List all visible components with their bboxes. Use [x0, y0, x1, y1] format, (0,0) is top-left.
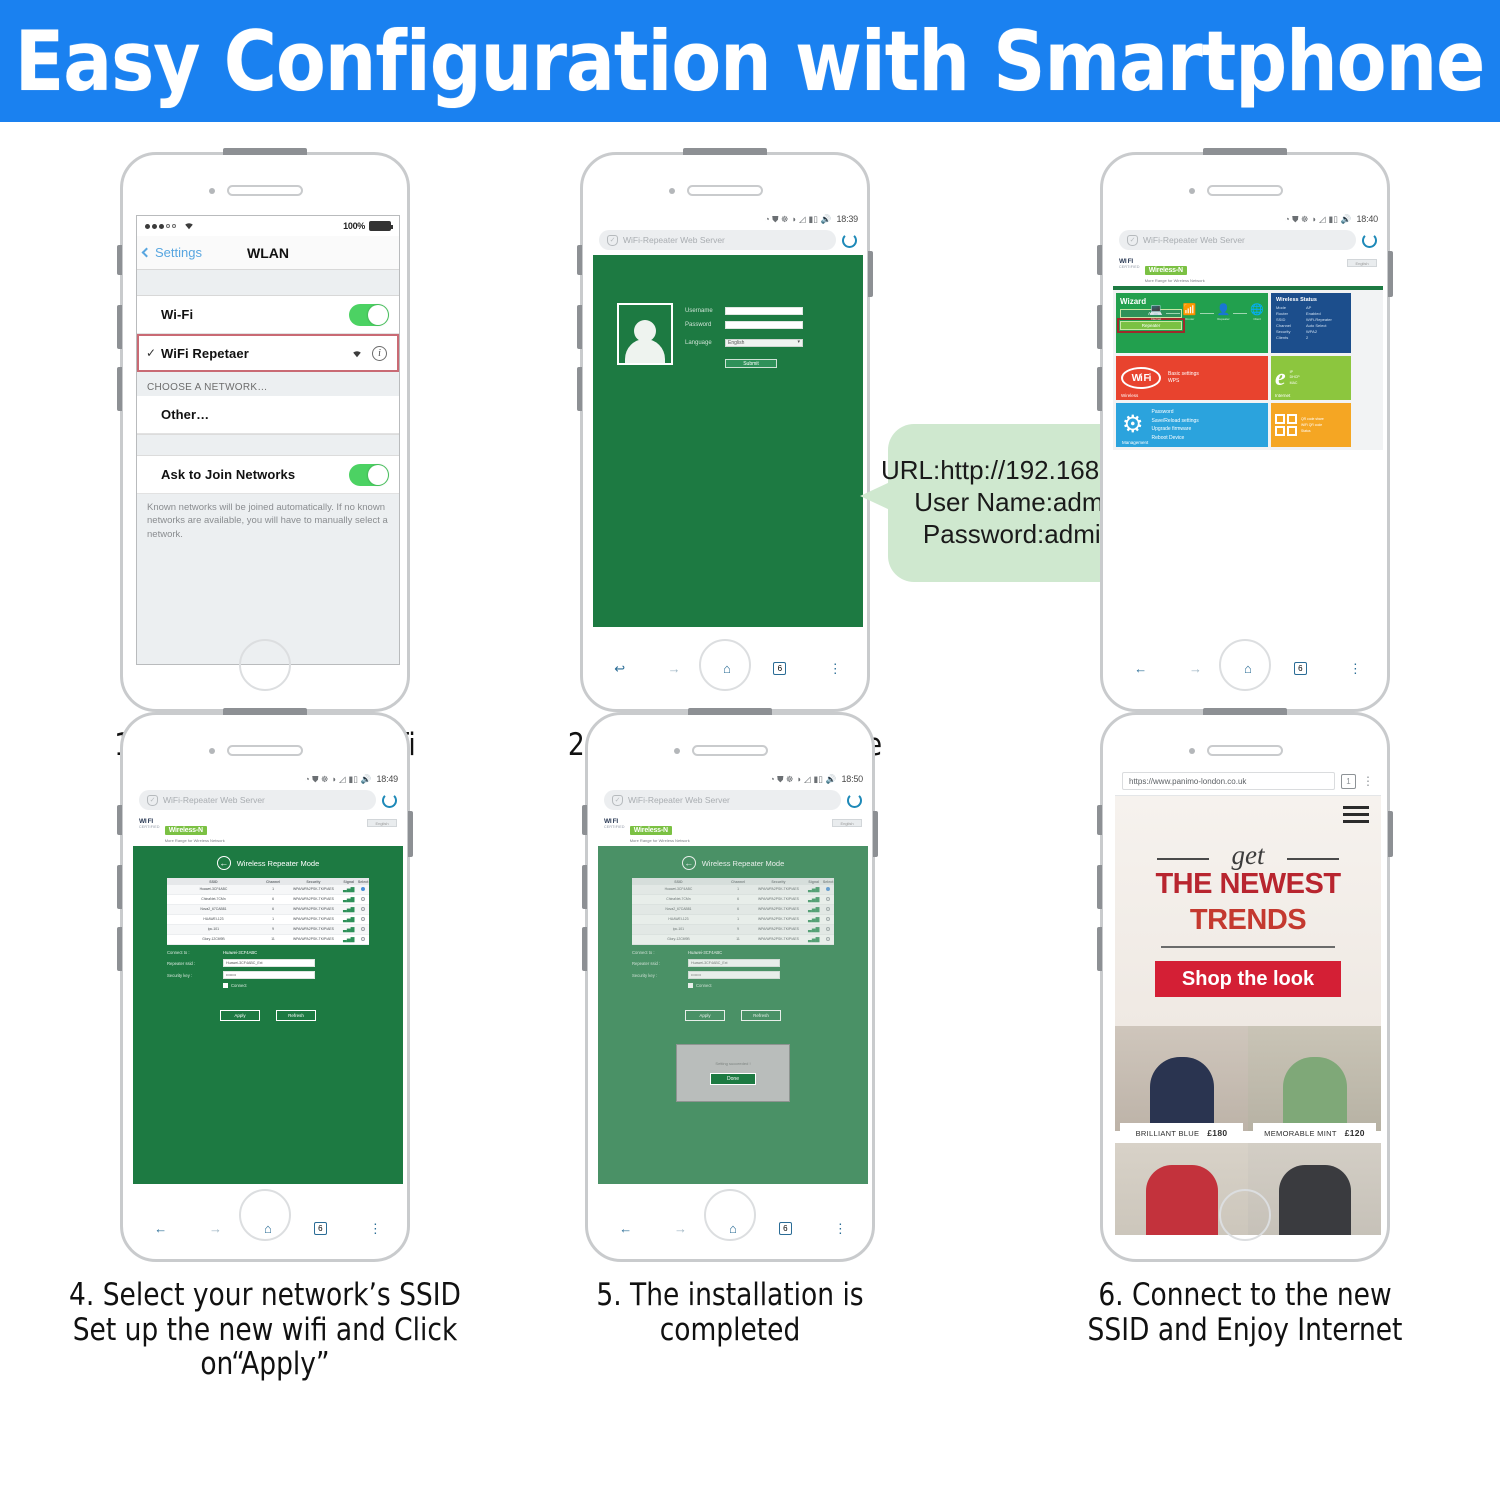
step-4-caption-line2: Set up the new wifi and Click on“Apply”	[32, 1313, 498, 1382]
user-avatar-icon	[617, 303, 673, 365]
menu-icon[interactable]: ⋮	[369, 1222, 382, 1235]
step-5: ◔ ⛊ ☸ ◑ ◿ ▮▯ 🔊 18:50 ✓ WiFi-Repeater Web…	[500, 712, 960, 1347]
site-hero-banner: get THE NEWEST TRENDS Shop the look	[1115, 796, 1381, 1026]
status-clock: 18:49	[376, 774, 398, 784]
manage-line-2: Upgrade firmware	[1152, 426, 1192, 432]
volume-down-button[interactable]	[1097, 367, 1102, 411]
volume-up-button[interactable]	[117, 865, 122, 909]
browser-omnibar: ✓ WiFi-Repeater Web Server	[598, 787, 868, 815]
product-name: BRILLIANT BLUE	[1136, 1129, 1200, 1138]
shopping-site-screen: https://www.panimo-london.co.uk 1 ⋮ get …	[1115, 767, 1381, 1235]
manage-line-1: Save/Reload settings	[1152, 418, 1199, 424]
step-6-caption-line2: SSID and Enjoy Internet	[1012, 1313, 1478, 1348]
product-image	[1279, 1165, 1351, 1235]
cell-channel: 6	[260, 895, 286, 904]
cell-signal: ▃▅▇	[341, 885, 357, 894]
router-brand-header: WI FI CERTIFIED Wireless-N More Range fo…	[598, 815, 868, 846]
power-side-button[interactable]	[873, 811, 878, 857]
earpiece-speaker	[692, 745, 768, 756]
step-6-caption: 6. Connect to the new SSID and Enjoy Int…	[1012, 1278, 1478, 1347]
steps-grid: 100% Settings WLAN Wi-Fi	[0, 122, 1500, 1500]
power-side-button[interactable]	[1388, 811, 1393, 857]
volume-icon: 🔊	[361, 775, 372, 784]
connected-network-label: WiFi Repetaer	[161, 346, 249, 361]
forward-icon[interactable]: →	[1189, 662, 1202, 675]
wifi-icon: ◿	[799, 215, 806, 224]
address-bar[interactable]: https://www.panimo-london.co.uk	[1122, 772, 1335, 790]
mute-switch[interactable]	[1097, 805, 1102, 835]
step-4-caption-line1: 4. Select your network’s SSID	[69, 1277, 461, 1313]
router-brand-header: WI FI CERTIFIED Wireless-N More Range fo…	[1113, 255, 1383, 286]
row-select-radio[interactable]	[361, 887, 365, 891]
browser-omnibar: ✓ WiFi-Repeater Web Server	[133, 787, 403, 815]
cell-signal: ▃▅▇	[341, 915, 357, 924]
menu-icon[interactable]: ⋮	[834, 1222, 847, 1235]
language-button[interactable]: English	[367, 819, 397, 827]
network-info-icon[interactable]: i	[372, 346, 387, 361]
step-4-caption: 4. Select your network’s SSID Set up the…	[32, 1278, 498, 1382]
cell-ssid: ChinaNet-7CMn	[167, 895, 260, 904]
back-icon[interactable]: →	[154, 1222, 167, 1235]
status-glyphs-icon: ◔ ⛊ ☸ ◑	[765, 215, 796, 224]
hero-headline-1: THE NEWEST	[1115, 868, 1381, 901]
back-icon[interactable]: →	[619, 1222, 632, 1235]
wifi-toggle-row[interactable]: Wi-Fi	[137, 296, 399, 334]
product-name: MEMORABLE MINT	[1264, 1129, 1337, 1138]
cell-signal: ▃▅▇	[341, 895, 357, 904]
volume-up-button[interactable]	[582, 865, 587, 909]
home-button[interactable]	[239, 639, 291, 691]
table-row[interactable]: ChinaNet-7CMn 6 WPA/WPA2PSK-TKIP/AES ▃▅▇	[167, 895, 369, 905]
tile-wireless[interactable]: Wi Fi Basic settings WPS Wireless	[1116, 356, 1268, 400]
cell-signal-icon: ▮▯	[809, 215, 818, 224]
mute-switch[interactable]	[117, 805, 122, 835]
wifi-tile-line2: WPS	[1168, 378, 1179, 384]
network-signal-icon	[351, 346, 363, 361]
android-status-bar: ◔ ⛊ ☸ ◑ ◿ ▮▯ 🔊 18:39	[593, 211, 863, 227]
mute-switch[interactable]	[1097, 245, 1102, 275]
volume-down-button[interactable]	[582, 927, 587, 971]
cell-security: WPA/WPA2PSK-TKIP/AES	[286, 925, 341, 934]
power-button[interactable]	[223, 148, 307, 155]
wireless-n-badge: Wireless-N	[1145, 266, 1187, 275]
android-browser-screen-dashboard: ◔ ⛊ ☸ ◑ ◿ ▮▯ 🔊 18:40 ✓ WiFi-Repeater Web…	[1113, 211, 1383, 681]
wizard-mode-repeater-button[interactable]: Repeater	[1120, 321, 1182, 330]
brand-tagline: More Range for Wireless Network	[1145, 278, 1205, 283]
home-button[interactable]	[239, 1189, 291, 1241]
status-glyphs-icon: ◔ ⛊ ☸ ◑	[1285, 215, 1316, 224]
browser-omnibar: ✓ WiFi-Repeater Web Server	[1113, 227, 1383, 255]
tile-management[interactable]: ⚙ Password Save/Reload settings Upgrade …	[1116, 403, 1268, 447]
home-button[interactable]	[704, 1189, 756, 1241]
volume-down-button[interactable]	[117, 367, 122, 411]
col-channel: Channel	[260, 878, 286, 885]
cell-ssid: Huawei-3CF4ABC	[167, 885, 260, 894]
step-6: https://www.panimo-london.co.uk 1 ⋮ get …	[1000, 712, 1490, 1347]
row-select-radio[interactable]	[361, 907, 365, 911]
connected-network-row[interactable]: ✓ WiFi Repetaer i	[137, 334, 399, 372]
success-dialog: Setting succeeded ! Done	[676, 1044, 790, 1102]
front-camera-icon	[669, 188, 675, 194]
connect-to-label: Connect to :	[167, 950, 219, 955]
volume-up-button[interactable]	[1097, 305, 1102, 349]
table-header-row: SSID Channel Security Signal Select	[167, 878, 369, 885]
android-status-bar: ◔ ⛊ ☸ ◑ ◿ ▮▯ 🔊 18:40	[1113, 211, 1383, 227]
menu-icon[interactable]: ⋮	[1362, 775, 1374, 787]
forward-icon[interactable]: →	[668, 662, 681, 675]
power-side-button[interactable]	[1388, 251, 1393, 297]
step-6-caption-line1: 6. Connect to the new	[1098, 1277, 1391, 1313]
qr-line-1: WiFi QR code	[1301, 423, 1322, 427]
front-camera-icon	[674, 748, 680, 754]
front-camera-icon	[1189, 188, 1195, 194]
step-3: ◔ ⛊ ☸ ◑ ◿ ▮▯ 🔊 18:40 ✓ WiFi-Repeater Web…	[1010, 152, 1480, 797]
mute-switch[interactable]	[577, 245, 582, 275]
topo-label-0: Internet	[1151, 317, 1161, 321]
repeater-page-header: ← Wireless Repeater Mode	[141, 856, 395, 870]
connect-checkbox[interactable]	[223, 983, 228, 988]
shield-icon: ✓	[607, 235, 618, 246]
product-card[interactable]: BRILLIANT BLUE £180	[1115, 1026, 1248, 1131]
repeater-mode-page: ← Wireless Repeater Mode SSID Channel Se…	[133, 846, 403, 1184]
brand-tagline: More Range for Wireless Network	[165, 838, 225, 843]
brand-tagline: More Range for Wireless Network	[630, 838, 690, 843]
tabs-icon[interactable]: 1	[1341, 774, 1356, 789]
volume-up-button[interactable]	[1097, 865, 1102, 909]
cell-ssid: HUAWEI-123	[167, 915, 260, 924]
product-row-1: BRILLIANT BLUE £180 MEMORABLE MINT £120	[1115, 1026, 1381, 1131]
table-row[interactable]: ipc-101 9 WPA/WPA2PSK-TKIP/AES ▃▅▇	[167, 925, 369, 935]
wifi-icon: ◿	[1319, 215, 1326, 224]
home-button[interactable]	[1219, 1189, 1271, 1241]
forward-icon[interactable]: →	[674, 1222, 687, 1235]
volume-down-button[interactable]	[577, 367, 582, 411]
android-status-bar: ◔ ⛊ ☸ ◑ ◿ ▮▯ 🔊 18:49	[133, 771, 403, 787]
power-button[interactable]	[683, 148, 767, 155]
volume-down-button[interactable]	[1097, 927, 1102, 971]
network-scan-table: SSID Channel Security Signal Select Huaw…	[167, 878, 369, 945]
address-bar[interactable]: ✓ WiFi-Repeater Web Server	[1119, 230, 1356, 250]
android-browser-screen-repeater: ◔ ⛊ ☸ ◑ ◿ ▮▯ 🔊 18:49 ✓ WiFi-Repeater Web…	[133, 771, 403, 1241]
ask-to-join-label: Ask to Join Networks	[161, 467, 295, 482]
management-tile-caption: Management	[1122, 440, 1148, 445]
router-dashboard-tiles: Wizard AP Repeater 💻Internet 📶Router 👤Re…	[1113, 290, 1383, 450]
apply-button[interactable]: Apply	[220, 1010, 260, 1021]
wifi-logo-sub: CERTIFIED	[139, 826, 160, 830]
wifi-logo-sub: CERTIFIED	[1119, 266, 1140, 270]
topo-label-1: Router	[1185, 317, 1194, 321]
router-node-icon: 📶	[1183, 305, 1197, 316]
repeater-ssid-input[interactable]: Huawei-3CF4ABC_Ext	[223, 959, 315, 967]
col-signal: Signal	[341, 878, 357, 885]
address-bar[interactable]: ✓ WiFi-Repeater Web Server	[604, 790, 841, 810]
mute-switch[interactable]	[117, 245, 122, 275]
back-icon[interactable]: ↩	[614, 662, 625, 675]
ask-to-join-toggle-switch[interactable]	[349, 464, 389, 486]
cell-ssid: Nova2_67CAB81	[167, 905, 260, 914]
address-bar-text: WiFi-Repeater Web Server	[628, 795, 730, 805]
volume-up-button[interactable]	[577, 305, 582, 349]
wifi-icon	[183, 221, 195, 232]
wireless-n-badge: Wireless-N	[165, 826, 207, 835]
gear-icon: ⚙	[1122, 413, 1144, 437]
language-button[interactable]: English	[832, 819, 862, 827]
tabs-icon[interactable]: 6	[773, 662, 786, 675]
android-status-bar: ◔ ⛊ ☸ ◑ ◿ ▮▯ 🔊 18:50	[598, 771, 868, 787]
front-camera-icon	[209, 188, 215, 194]
volume-icon: 🔊	[1341, 215, 1352, 224]
forward-icon[interactable]: →	[209, 1222, 222, 1235]
wifi-toggle-switch[interactable]	[349, 304, 389, 326]
internet-line1: IP	[1290, 370, 1293, 374]
back-arrow-icon[interactable]: ←	[217, 856, 231, 870]
repeater-page-title: Wireless Repeater Mode	[237, 859, 320, 868]
battery-icon	[369, 221, 391, 231]
wizard-topology-diagram: 💻Internet 📶Router 👤Repeater 🌐Client	[1149, 305, 1264, 321]
earpiece-speaker	[1207, 185, 1283, 196]
table-row[interactable]: HUAWEI-123 1 WPA/WPA2PSK-TKIP/AES ▃▅▇	[167, 915, 369, 925]
manage-line-3: Reboot Device	[1152, 435, 1185, 441]
ios-wlan-screen: 100% Settings WLAN Wi-Fi	[136, 215, 400, 665]
qr-line-0: QR code share	[1301, 417, 1324, 421]
row-select-radio[interactable]	[361, 917, 365, 921]
cell-signal: ▃▅▇	[341, 905, 357, 914]
submit-button[interactable]: Submit	[725, 359, 777, 368]
table-row[interactable]: Huawei-3CF4ABC 1 WPA/WPA2PSK-TKIP/AES ▃▅…	[167, 885, 369, 895]
cell-signal: ▃▅▇	[341, 925, 357, 934]
reload-icon[interactable]	[1362, 233, 1377, 248]
col-ssid: SSID	[167, 878, 260, 885]
status-clock: 18:40	[1356, 214, 1378, 224]
status-glyphs-icon: ◔ ⛊ ☸ ◑	[770, 775, 801, 784]
cell-signal-icon: ▮▯	[1329, 215, 1338, 224]
topo-label-3: Client	[1253, 317, 1261, 321]
refresh-button[interactable]: Refresh	[276, 1010, 316, 1021]
volume-down-button[interactable]	[117, 927, 122, 971]
wifi-icon: ◿	[339, 775, 346, 784]
cell-channel: 1	[260, 885, 286, 894]
col-security: Security	[286, 878, 341, 885]
power-button[interactable]	[1203, 148, 1287, 155]
phone-frame-5: ◔ ⛊ ☸ ◑ ◿ ▮▯ 🔊 18:50 ✓ WiFi-Repeater Web…	[585, 712, 875, 1262]
table-row[interactable]: Nova2_67CAB81 6 WPA/WPA2PSK-TKIP/AES ▃▅▇	[167, 905, 369, 915]
status-glyphs-icon: ◔ ⛊ ☸ ◑	[305, 775, 336, 784]
tile-wireless-status[interactable]: Wireless Status ModeAP RouterEnabled SSI…	[1271, 293, 1351, 353]
cell-signal-dots-icon	[145, 224, 176, 229]
phone-frame-1: 100% Settings WLAN Wi-Fi	[120, 152, 410, 712]
wifi-tile-caption: Wireless	[1121, 393, 1138, 398]
address-bar[interactable]: ✓ WiFi-Repeater Web Server	[139, 790, 376, 810]
phone-frame-4: ◔ ⛊ ☸ ◑ ◿ ▮▯ 🔊 18:49 ✓ WiFi-Repeater Web…	[120, 712, 410, 1262]
wifi-certified-logo-icon: WI FI CERTIFIED	[604, 819, 625, 830]
power-side-button[interactable]	[868, 251, 873, 297]
other-network-row[interactable]: Other…	[137, 396, 399, 434]
step-5-caption-line2: completed	[512, 1313, 949, 1348]
choose-network-section-header: CHOOSE A NETWORK…	[137, 372, 399, 396]
router-login-page: Username Password Language English	[593, 255, 863, 627]
reload-icon[interactable]	[842, 233, 857, 248]
wifi-logo-sub: CERTIFIED	[604, 826, 625, 830]
phone-frame-2: ◔ ⛊ ☸ ◑ ◿ ▮▯ 🔊 18:39 ✓ WiFi-Repeater Web…	[580, 152, 870, 712]
repeater-settings-form: Connect to : Huawei-3CF4ABC Repeater ssi…	[167, 950, 369, 988]
internet-line2: DHCP	[1290, 375, 1300, 379]
earpiece-speaker	[227, 745, 303, 756]
front-camera-icon	[1189, 748, 1195, 754]
status-clock: 18:50	[841, 774, 863, 784]
page-header-banner: Easy Configuration with Smartphone	[0, 0, 1500, 122]
menu-icon[interactable]: ⋮	[1349, 662, 1362, 675]
tabs-icon[interactable]: 6	[314, 1222, 327, 1235]
product-label: MEMORABLE MINT £120	[1253, 1123, 1376, 1143]
shop-the-look-button[interactable]: Shop the look	[1155, 961, 1341, 997]
android-browser-screen-complete: ◔ ⛊ ☸ ◑ ◿ ▮▯ 🔊 18:50 ✓ WiFi-Repeater Web…	[598, 771, 868, 1241]
hero-script-word: get	[1115, 840, 1381, 871]
mute-switch[interactable]	[582, 805, 587, 835]
cell-channel: 6	[260, 905, 286, 914]
ask-to-join-row[interactable]: Ask to Join Networks	[137, 456, 399, 494]
reload-icon[interactable]	[382, 793, 397, 808]
password-label: Password	[685, 322, 719, 328]
step-5-caption-line1: 5. The installation is	[596, 1277, 863, 1313]
android-browser-screen-login: ◔ ⛊ ☸ ◑ ◿ ▮▯ 🔊 18:39 ✓ WiFi-Repeater Web…	[593, 211, 863, 681]
cell-security: WPA/WPA2PSK-TKIP/AES	[286, 905, 341, 914]
ios-settings-list: Wi-Fi ✓ WiFi Repetaer i CHOOSE	[137, 270, 399, 664]
cell-security: WPA/WPA2PSK-TKIP/AES	[286, 935, 341, 944]
callout-tail	[860, 482, 890, 510]
repeater-ssid-label: Repeater ssid :	[167, 961, 219, 966]
step-5-caption: 5. The installation is completed	[512, 1278, 949, 1347]
cell-signal-icon: ▮▯	[349, 775, 358, 784]
hero-headline-2: TRENDS	[1115, 904, 1381, 937]
earpiece-speaker	[227, 185, 303, 196]
product-price: £180	[1207, 1128, 1227, 1138]
col-select: Select	[357, 878, 369, 885]
product-price: £120	[1345, 1128, 1365, 1138]
step-4: ◔ ⛊ ☸ ◑ ◿ ▮▯ 🔊 18:49 ✓ WiFi-Repeater Web…	[20, 712, 510, 1382]
product-label: BRILLIANT BLUE £180	[1120, 1123, 1243, 1143]
step-1: 100% Settings WLAN Wi-Fi	[30, 152, 500, 797]
cell-signal: ▃▅▇	[341, 935, 357, 944]
cell-channel: 1	[260, 915, 286, 924]
address-bar-text: WiFi-Repeater Web Server	[163, 795, 265, 805]
power-button[interactable]	[688, 708, 772, 715]
table-row[interactable]: Glory-12CM9B 11 WPA/WPA2PSK-TKIP/AES ▃▅▇	[167, 935, 369, 945]
cell-security: WPA/WPA2PSK-TKIP/AES	[286, 915, 341, 924]
screen-title: WLAN	[137, 245, 399, 261]
tabs-icon[interactable]: 6	[779, 1222, 792, 1235]
hero-rule-bottom	[1161, 946, 1335, 948]
cell-security: WPA/WPA2PSK-TKIP/AES	[286, 895, 341, 904]
row-select-radio[interactable]	[361, 897, 365, 901]
internet-line3: MAC	[1290, 381, 1298, 385]
success-dialog-message: Setting succeeded !	[715, 1061, 750, 1066]
login-form: Username Password Language English	[685, 303, 803, 368]
page-title: Easy Configuration with Smartphone	[15, 13, 1485, 110]
status-clock: 18:39	[836, 214, 858, 224]
cell-ssid: ipc-101	[167, 925, 260, 934]
cell-security: WPA/WPA2PSK-TKIP/AES	[286, 885, 341, 894]
power-button[interactable]	[1203, 708, 1287, 715]
modal-overlay	[598, 846, 868, 1184]
cell-ssid: Glory-12CM9B	[167, 935, 260, 944]
wifi-icon: ◿	[804, 775, 811, 784]
tile-status-qr[interactable]: QR code share WiFi QR code Status	[1271, 403, 1351, 447]
status-val-5: 2	[1306, 335, 1308, 341]
address-bar-text: WiFi-Repeater Web Server	[1143, 235, 1245, 245]
cell-channel: 11	[260, 935, 286, 944]
earpiece-speaker	[687, 185, 763, 196]
browser-omnibar: ✓ WiFi-Repeater Web Server	[593, 227, 863, 255]
tile-wizard[interactable]: Wizard AP Repeater 💻Internet 📶Router 👤Re…	[1116, 293, 1268, 353]
product-card[interactable]: MEMORABLE MINT £120	[1248, 1026, 1381, 1131]
language-label: Language	[685, 340, 719, 346]
password-input[interactable]	[725, 321, 803, 329]
language-button[interactable]: English	[1347, 259, 1377, 267]
row-select-radio[interactable]	[361, 927, 365, 931]
wifi-certified-logo-icon: WI FI CERTIFIED	[139, 819, 160, 830]
address-bar[interactable]: ✓ WiFi-Repeater Web Server	[599, 230, 836, 250]
wifi-certified-logo-icon: WI FI CERTIFIED	[1119, 259, 1140, 270]
earpiece-speaker	[1207, 745, 1283, 756]
menu-icon[interactable]: ⋮	[829, 662, 842, 675]
power-button[interactable]	[223, 708, 307, 715]
home-button[interactable]	[1219, 639, 1271, 691]
home-button[interactable]	[699, 639, 751, 691]
phone-frame-3: ◔ ⛊ ☸ ◑ ◿ ▮▯ 🔊 18:40 ✓ WiFi-Repeater Web…	[1100, 152, 1390, 712]
reload-icon[interactable]	[847, 793, 862, 808]
security-key-label: Security key :	[167, 973, 219, 978]
volume-icon: 🔊	[821, 215, 832, 224]
row-select-radio[interactable]	[361, 937, 365, 941]
security-key-input[interactable]: ••••••••	[223, 971, 315, 979]
power-side-button[interactable]	[408, 811, 413, 857]
manage-line-0: Password	[1152, 409, 1174, 415]
shield-icon: ✓	[147, 795, 158, 806]
repeater-action-buttons: Apply Refresh	[141, 1010, 395, 1021]
ios-status-bar: 100%	[137, 216, 399, 236]
connect-checkbox-label: Connect	[231, 983, 247, 988]
qr-code-icon	[1275, 414, 1297, 436]
shield-icon: ✓	[1127, 235, 1138, 246]
back-icon[interactable]: →	[1134, 662, 1147, 675]
qr-tile-caption: Status	[1301, 429, 1311, 433]
product-image	[1150, 1057, 1214, 1131]
username-label: Username	[685, 308, 719, 314]
username-input[interactable]	[725, 307, 803, 315]
done-button[interactable]: Done	[710, 1073, 756, 1085]
list-mid-spacer	[137, 434, 399, 456]
tabs-icon[interactable]: 6	[1294, 662, 1307, 675]
tile-internet[interactable]: e IP DHCP MAC Internet	[1271, 356, 1351, 400]
checkmark-icon: ✓	[146, 346, 156, 360]
router-brand-header: WI FI CERTIFIED Wireless-N More Range fo…	[133, 815, 403, 846]
repeater-mode-page-dimmed: ← Wireless Repeater Mode SSID Channel Se…	[598, 846, 868, 1184]
internet-tile-caption: Internet	[1275, 393, 1290, 398]
repeater-node-icon: 👤	[1217, 305, 1231, 316]
language-select[interactable]: English	[725, 339, 803, 347]
cell-channel: 9	[260, 925, 286, 934]
status-key-5: Clients	[1276, 335, 1306, 341]
front-camera-icon	[209, 748, 215, 754]
client-node-icon: 🌐	[1250, 305, 1264, 316]
hamburger-menu-icon[interactable]	[1343, 806, 1369, 823]
status-tile-title: Wireless Status	[1276, 297, 1346, 303]
wifi-tile-line1: Basic settings	[1168, 371, 1199, 377]
connect-to-value: Huawei-3CF4ABC	[223, 950, 257, 955]
volume-up-button[interactable]	[117, 305, 122, 349]
wifi-row-label: Wi-Fi	[161, 307, 193, 322]
phone-frame-6: https://www.panimo-london.co.uk 1 ⋮ get …	[1100, 712, 1390, 1262]
